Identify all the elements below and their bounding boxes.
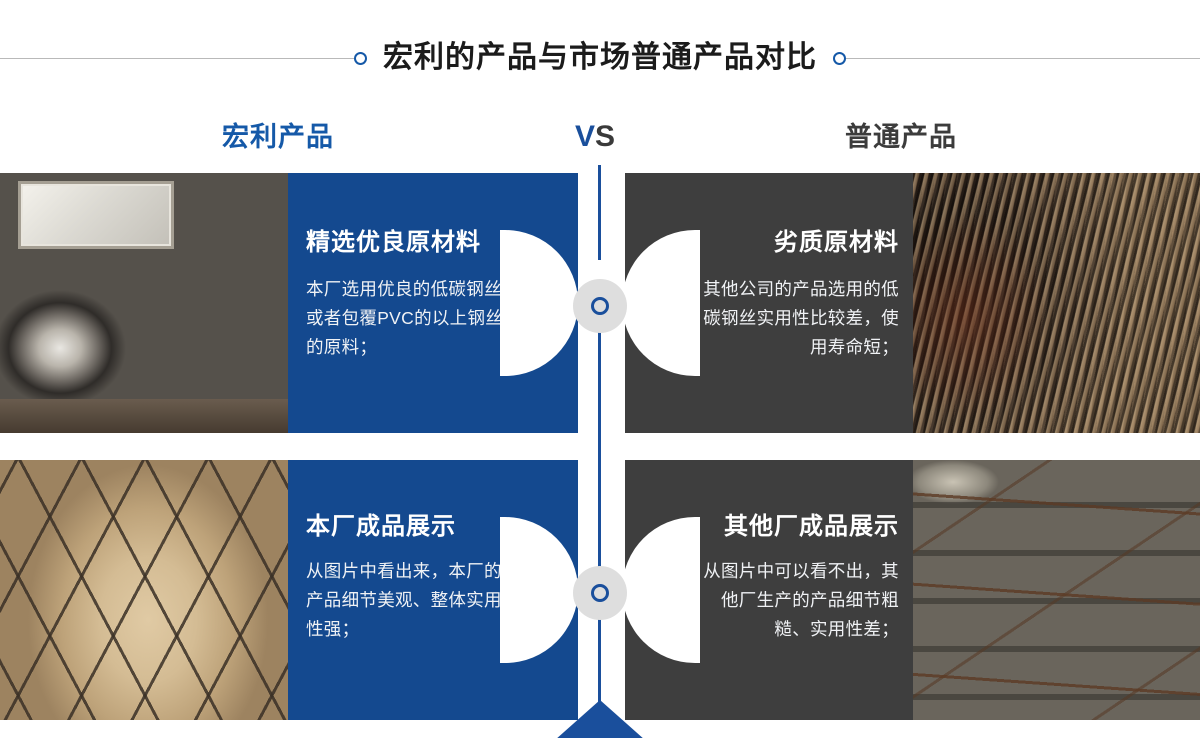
coarse-gabion-wall-image	[913, 460, 1200, 720]
page-title: 宏利的产品与市场普通产品对比	[367, 43, 833, 73]
circle-outline-icon-left	[354, 52, 367, 65]
title-rule-left	[0, 58, 354, 59]
row1-right-body: 其他公司的产品选用的低碳钢丝实用性比较差，使用寿命短；	[690, 275, 899, 362]
row1-left-body: 本厂选用优良的低碳钢丝或者包覆PVC的以上钢丝的原料；	[306, 275, 508, 362]
column-header-ordinary: 普通产品	[845, 124, 957, 151]
row1-right-photo	[913, 173, 1200, 433]
column-header-ours: 宏利产品	[222, 124, 334, 151]
row1-left-heading: 精选优良原材料	[306, 231, 508, 255]
title-rule-right	[846, 58, 1200, 59]
row1-right-heading: 劣质原材料	[690, 231, 899, 255]
row2-left-photo	[0, 460, 290, 720]
row2-left-heading: 本厂成品展示	[306, 515, 508, 539]
vs-letter-s: S	[595, 120, 615, 153]
rusty-wire-coil-image	[913, 173, 1200, 433]
row2-left-body: 从图片中看出来，本厂的产品细节美观、整体实用性强；	[306, 557, 508, 644]
center-node-row-1	[573, 279, 627, 333]
row2-right-heading: 其他厂成品展示	[690, 515, 899, 539]
circle-outline-icon-right	[833, 52, 846, 65]
row2-right-body: 从图片中可以看不出，其他厂生产的产品细节粗糙、实用性差；	[690, 557, 899, 644]
row2-right-photo	[913, 460, 1200, 720]
page-title-bar: 宏利的产品与市场普通产品对比	[0, 28, 1200, 88]
vs-label: VS	[575, 122, 615, 152]
steel-wire-coils-image	[0, 173, 290, 433]
comparison-infographic: 宏利的产品与市场普通产品对比 宏利产品 VS 普通产品 精选优良原材料 本厂选用…	[0, 0, 1200, 738]
ring-node-icon-1	[591, 297, 609, 315]
vs-letter-v: V	[575, 120, 595, 153]
row1-left-photo	[0, 173, 290, 433]
center-node-row-2	[573, 566, 627, 620]
column-headers: 宏利产品 VS 普通产品	[0, 110, 1200, 165]
center-spine-line	[598, 165, 601, 721]
ring-node-icon-2	[591, 584, 609, 602]
gabion-boulder-image	[0, 460, 290, 720]
triangle-up-icon	[555, 700, 645, 738]
